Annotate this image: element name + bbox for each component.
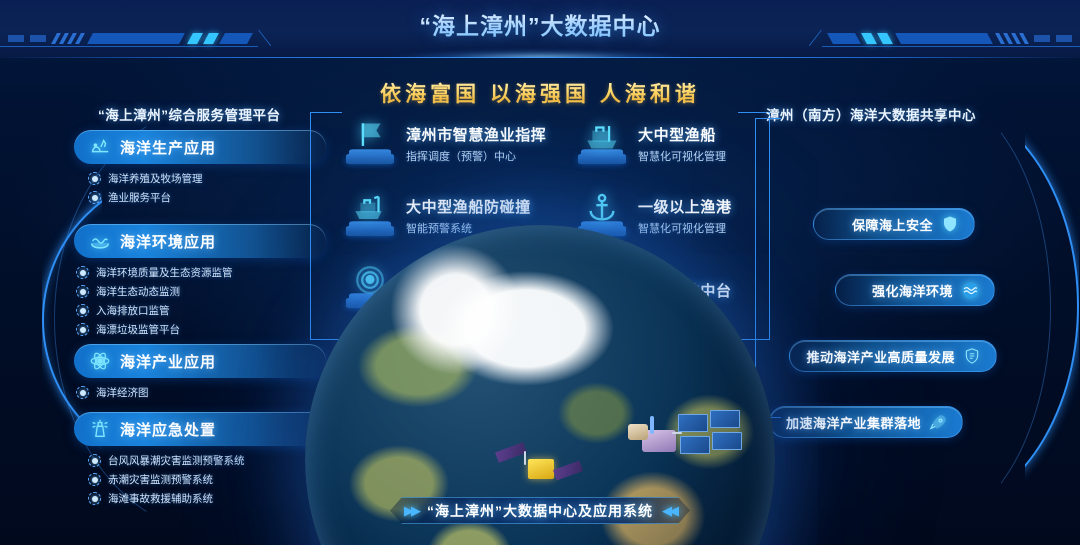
sidebar-subitem-list: 海洋养殖及牧场管理 渔业服务平台 [74,169,326,207]
right-panel: 保障海上安全 强化海洋环境 推动海洋产业高质量发展 [755,118,1045,448]
right-bracket [755,118,781,418]
flag-icon [344,120,396,172]
ship-radar-icon [344,192,396,244]
right-button-label: 加速海洋产业集群落地 [786,413,921,432]
sidebar-section-label: 海洋环境应用 [120,231,216,252]
sidebar-subitem-list: 台风风暴潮灾害监测预警系统 赤潮灾害监测预警系统 海滩事故救援辅助系统 [74,451,326,508]
shield-icon [940,214,960,234]
sidebar-section-label: 海洋生产应用 [120,137,216,158]
sidebar-subitem-label: 台风风暴潮灾害监测预警系统 [108,453,245,468]
rocket-icon [928,412,948,432]
center-item-text: 大中型渔船 智慧化可视化管理 [638,120,726,164]
lighthouse-icon [88,417,112,441]
sidebar-section-label: 海洋应急处置 [120,419,216,440]
fishing-boat-icon [576,120,628,172]
bullet-icon [76,285,89,298]
bullet-icon [76,266,89,279]
sidebar-section-marine-environment: 海洋环境应用 海洋环境质量及生态资源监管 海洋生态动态监测 入海排放口监管 海 [74,224,326,339]
sidebar-subitem-list: 海洋经济图 [74,383,326,402]
wave-icon [88,229,112,253]
sidebar-section-header[interactable]: 海洋生产应用 [74,130,326,164]
satellite-yellow-icon [494,441,584,487]
sidebar-subitem-label: 入海排放口监管 [96,303,170,318]
header-bar: “海上漳州”大数据中心 [0,0,1080,58]
right-button-label: 强化海洋环境 [872,281,953,300]
bottom-banner-label: “海上漳州”大数据中心及应用系统 [427,501,653,521]
sidebar-subitem[interactable]: 海洋养殖及牧场管理 [88,169,326,188]
center-item-subtitle: 智慧化可视化管理 [638,148,726,164]
bullet-icon [88,191,101,204]
center-item-large-fishing-vessels[interactable]: 大中型渔船 智慧化可视化管理 [576,120,726,172]
center-item-text: 一级以上渔港 智慧化可视化管理 [638,192,732,236]
center-item-title: 大中型渔船防碰撞 [406,196,531,217]
sidebar-section-header[interactable]: 海洋产业应用 [74,344,326,378]
sidebar-section-emergency-response: 海洋应急处置 台风风暴潮灾害监测预警系统 赤潮灾害监测预警系统 海滩事故救援辅助… [74,412,326,508]
center-item-title: 一级以上渔港 [638,196,732,217]
sidebar-subitem[interactable]: 赤潮灾害监测预警系统 [88,470,326,489]
sidebar-subitem[interactable]: 入海排放口监管 [76,301,326,320]
header-glow [390,50,690,58]
sidebar-subitem-label: 海洋环境质量及生态资源监管 [96,265,233,280]
wave-circle-icon [960,280,980,300]
bottom-banner[interactable]: ▶▶ “海上漳州”大数据中心及应用系统 ◀◀ [390,497,690,524]
sidebar-subitem[interactable]: 台风风暴潮灾害监测预警系统 [88,451,326,470]
right-button-maritime-safety[interactable]: 保障海上安全 [813,208,975,240]
right-button-label: 推动海洋产业高质量发展 [806,347,955,366]
center-item-title: 大中型渔船 [638,124,726,145]
right-button-industry-cluster[interactable]: 加速海洋产业集群落地 [769,406,963,438]
bullet-icon [88,172,101,185]
bullet-icon [76,323,89,336]
center-item-text: 漳州市智慧渔业指挥 指挥调度（预警）中心 [406,120,546,164]
right-button-industry-development[interactable]: 推动海洋产业高质量发展 [789,340,997,372]
sidebar-subitem[interactable]: 海洋生态动态监测 [76,282,326,301]
center-item-fishery-command[interactable]: 漳州市智慧渔业指挥 指挥调度（预警）中心 [344,120,546,172]
sidebar-section-marine-production: 海洋生产应用 海洋养殖及牧场管理 渔业服务平台 [74,130,326,207]
right-button-marine-environment[interactable]: 强化海洋环境 [835,274,995,306]
quality-badge-icon [962,346,982,366]
center-item-subtitle: 指挥调度（预警）中心 [406,148,546,164]
satellite-blue-icon [616,406,742,474]
sidebar-section-label: 海洋产业应用 [120,351,216,372]
center-item-title: 漳州市智慧渔业指挥 [406,124,546,145]
aquaculture-icon [88,135,112,159]
sidebar-subitem[interactable]: 海漂垃圾监管平台 [76,320,326,339]
right-arc-outline [801,88,1051,528]
center-item-subtitle: 智慧化可视化管理 [638,220,732,236]
chevron-left-icon: ◀◀ [662,503,676,519]
sidebar-section-header[interactable]: 海洋应急处置 [74,412,326,446]
dashboard-root: “海上漳州”大数据中心 依海富国 以海强国 人海和谐 “海上漳州”综合服务管理平… [0,0,1080,545]
sidebar-subitem[interactable]: 渔业服务平台 [88,188,326,207]
sidebar-subitem-label: 海洋经济图 [96,385,149,400]
left-panel: 海洋生产应用 海洋养殖及牧场管理 渔业服务平台 [60,118,330,520]
sidebar-subitem-label: 海洋生态动态监测 [96,284,180,299]
center-bracket-left [310,112,342,340]
sidebar-subitem[interactable]: 海洋经济图 [76,383,326,402]
sidebar-section-marine-industry: 海洋产业应用 海洋经济图 [74,344,326,402]
page-title: “海上漳州”大数据中心 [0,7,1080,41]
sidebar-subitem-label: 海漂垃圾监管平台 [96,322,180,337]
sidebar-subitem-label: 赤潮灾害监测预警系统 [108,472,213,487]
chevron-right-icon: ▶▶ [404,503,418,519]
sidebar-subitem-label: 海滩事故救援辅助系统 [108,491,213,506]
sidebar-subitem[interactable]: 海滩事故救援辅助系统 [88,489,326,508]
bullet-icon [88,454,101,467]
atom-icon [88,349,112,373]
sidebar-subitem-label: 海洋养殖及牧场管理 [108,171,203,186]
sidebar-subitem-list: 海洋环境质量及生态资源监管 海洋生态动态监测 入海排放口监管 海漂垃圾监管平台 [74,263,326,339]
right-button-label: 保障海上安全 [852,215,933,234]
sidebar-subitem[interactable]: 海洋环境质量及生态资源监管 [76,263,326,282]
bullet-icon [76,386,89,399]
bullet-icon [88,492,101,505]
bullet-icon [88,473,101,486]
sidebar-subitem-label: 渔业服务平台 [108,190,171,205]
sidebar-section-header[interactable]: 海洋环境应用 [74,224,326,258]
bullet-icon [76,304,89,317]
